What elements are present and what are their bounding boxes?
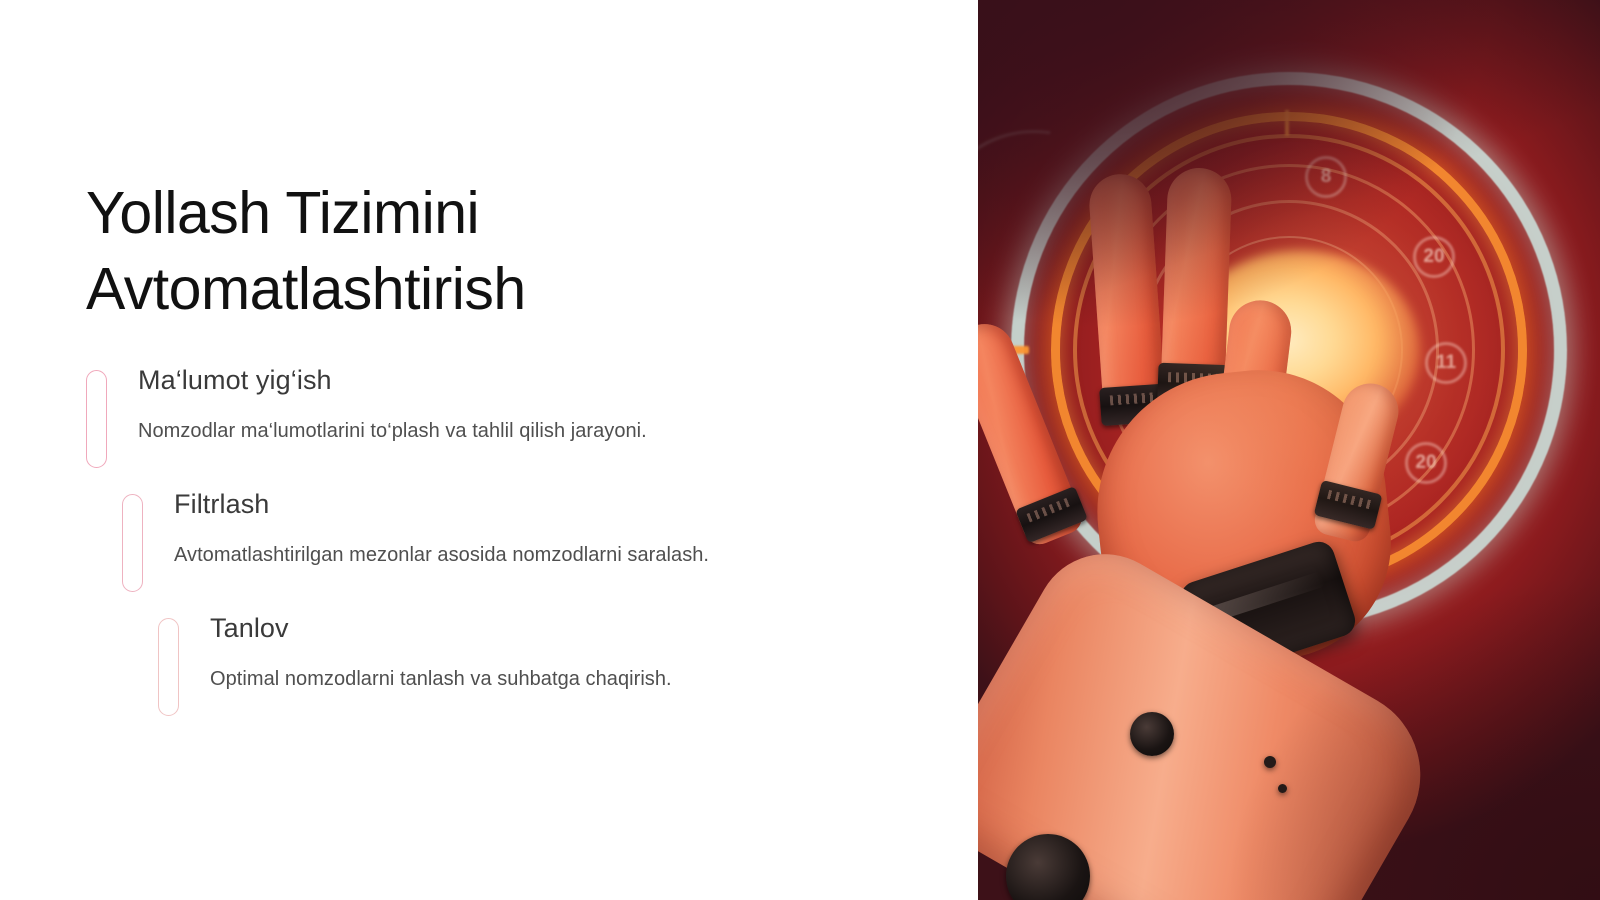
list-item-text: Filtrlash Avtomatlashtirilgan mezonlar a…: [122, 488, 978, 569]
accent-bar-icon: [122, 494, 143, 592]
accent-bar-icon: [86, 370, 107, 468]
list-item-heading: Tanlov: [210, 612, 978, 644]
image-vignette: [978, 0, 1600, 900]
list-item-text: Tanlov Optimal nomzodlarni tanlash va su…: [158, 612, 978, 693]
list-item: Filtrlash Avtomatlashtirilgan mezonlar a…: [122, 488, 978, 600]
list-item-description: Nomzodlar ma‘lumotlarini to‘plash va tah…: [138, 418, 978, 445]
steps-list: Ma‘lumot yig‘ish Nomzodlar ma‘lumotlarin…: [0, 352, 978, 724]
list-item-description: Avtomatlashtirilgan mezonlar asosida nom…: [174, 542, 978, 569]
accent-bar-icon: [158, 618, 179, 716]
list-item-text: Ma‘lumot yig‘ish Nomzodlar ma‘lumotlarin…: [86, 364, 978, 445]
list-item: Ma‘lumot yig‘ish Nomzodlar ma‘lumotlarin…: [86, 364, 978, 476]
list-item: Tanlov Optimal nomzodlarni tanlash va su…: [158, 612, 978, 724]
slide: Yollash Tizimini Avtomatlashtirish Ma‘lu…: [0, 0, 1600, 900]
content-panel: Yollash Tizimini Avtomatlashtirish Ma‘lu…: [0, 0, 978, 900]
list-item-description: Optimal nomzodlarni tanlash va suhbatga …: [210, 666, 978, 693]
slide-image: 8 20 11 20: [978, 0, 1600, 900]
list-item-heading: Ma‘lumot yig‘ish: [138, 364, 978, 396]
list-item-heading: Filtrlash: [174, 488, 978, 520]
page-title: Yollash Tizimini Avtomatlashtirish: [86, 176, 806, 327]
